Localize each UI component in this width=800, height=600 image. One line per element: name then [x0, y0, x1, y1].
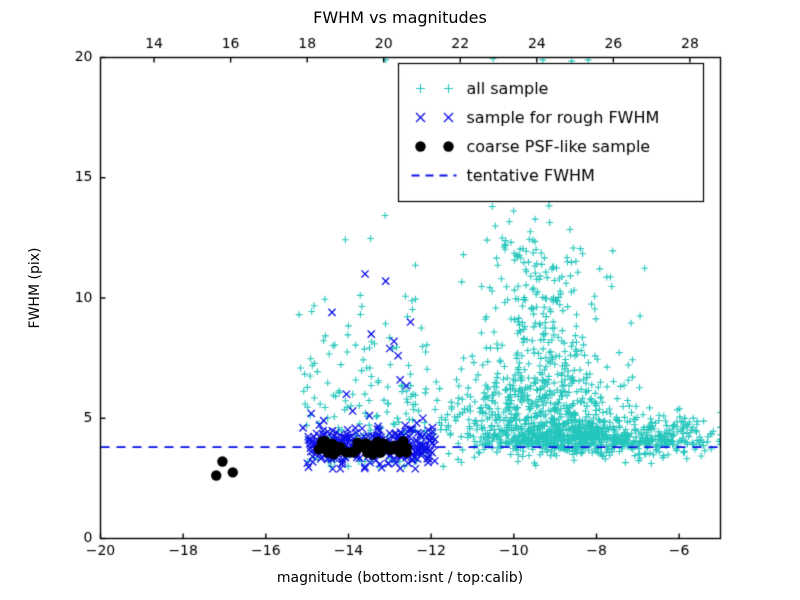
matplotlib-figure: FWHM vs magnitudes magnitude (bottom:isn… — [0, 0, 800, 600]
scatter-plot-canvas — [0, 0, 800, 600]
